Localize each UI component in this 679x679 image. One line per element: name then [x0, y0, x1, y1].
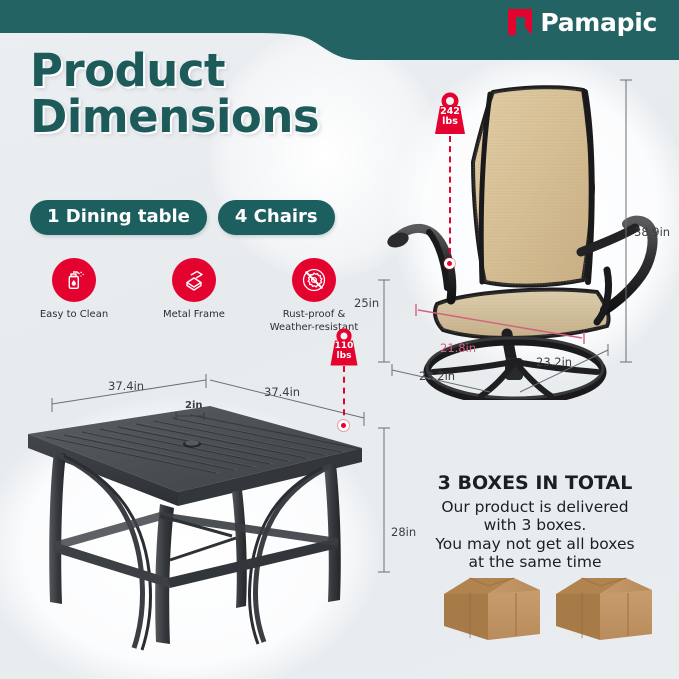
pill-chairs: 4 Chairs	[218, 200, 335, 235]
table-capacity-point	[338, 420, 349, 431]
chair-depth-label: 23.2in	[536, 355, 572, 369]
chair-capacity-text: 242 lbs	[429, 107, 471, 127]
no-rust-icon-badge	[292, 258, 336, 302]
page-title: Product Dimensions	[30, 48, 319, 141]
feature-easy-to-clean: Easy to Clean	[26, 258, 122, 334]
brand-name: Pamapic	[540, 10, 657, 35]
chair-height-label: 38.9in	[634, 225, 670, 239]
product-contents-pills: 1 Dining table 4 Chairs	[30, 200, 335, 235]
table-length-label: 37.4in	[108, 379, 144, 393]
table-height-label: 28in	[391, 525, 416, 539]
feature-list: Easy to Clean Metal Frame	[26, 258, 362, 334]
feature-rust-proof: Rust-proof & Weather-resistant	[266, 258, 362, 334]
shipping-box-2	[556, 578, 652, 640]
chair-seat-height-label: 25in	[354, 296, 379, 310]
no-rust-icon	[300, 266, 328, 294]
spray-bottle-icon	[61, 267, 87, 293]
shipping-line-4: at the same time	[468, 553, 601, 571]
feature-metal-frame: Metal Frame	[146, 258, 242, 334]
shipping-body: Our product is delivered with 3 boxes. Y…	[396, 498, 674, 571]
infographic-page: Pamapic Product Dimensions 1 Dining tabl…	[0, 0, 679, 679]
table-capacity-text: 110 lbs	[325, 341, 363, 361]
shipping-boxes-illustration	[440, 572, 656, 652]
shipping-line-2: with 3 boxes.	[484, 516, 587, 534]
shipping-line-3: You may not get all boxes	[435, 535, 634, 553]
table-width-label: 37.4in	[264, 385, 300, 399]
shipping-info: 3 BOXES IN TOTAL Our product is delivere…	[396, 472, 674, 571]
feature-label-clean: Easy to Clean	[26, 309, 122, 322]
chair-base-diameter-label: 21.8in	[440, 341, 476, 355]
table-weight-capacity-badge: 110 lbs	[325, 328, 363, 368]
feature-label-rust-line1: Rust-proof &	[283, 309, 346, 320]
shipping-title: 3 BOXES IN TOTAL	[396, 472, 674, 494]
chair-capacity-point	[444, 258, 455, 269]
table-capacity-value: 110	[335, 341, 354, 351]
chair-capacity-unit: lbs	[442, 116, 458, 127]
feature-label-metal: Metal Frame	[146, 309, 242, 322]
spray-bottle-icon-badge	[52, 258, 96, 302]
shipping-line-1: Our product is delivered	[441, 498, 628, 516]
chair-weight-capacity-badge: 242 lbs	[429, 92, 471, 136]
pill-dining-table: 1 Dining table	[30, 200, 207, 235]
pamapic-square-mark-icon	[507, 8, 533, 36]
chair-width-label: 23.2in	[419, 369, 455, 383]
table-capacity-unit: lbs	[337, 351, 352, 361]
metal-sheets-icon	[181, 267, 207, 293]
table-capacity-leader-line	[343, 366, 345, 426]
shipping-box-1	[444, 578, 540, 640]
title-line-2: Dimensions	[30, 94, 319, 140]
chair-capacity-leader-line	[449, 136, 451, 264]
chair-dimension-lines	[370, 62, 670, 402]
title-line-1: Product	[30, 48, 319, 94]
brand-logo: Pamapic	[507, 8, 657, 36]
table-umbrella-hole-label: 2in	[185, 400, 203, 411]
table-dimension-lines	[8, 372, 428, 602]
metal-sheets-icon-badge	[172, 258, 216, 302]
